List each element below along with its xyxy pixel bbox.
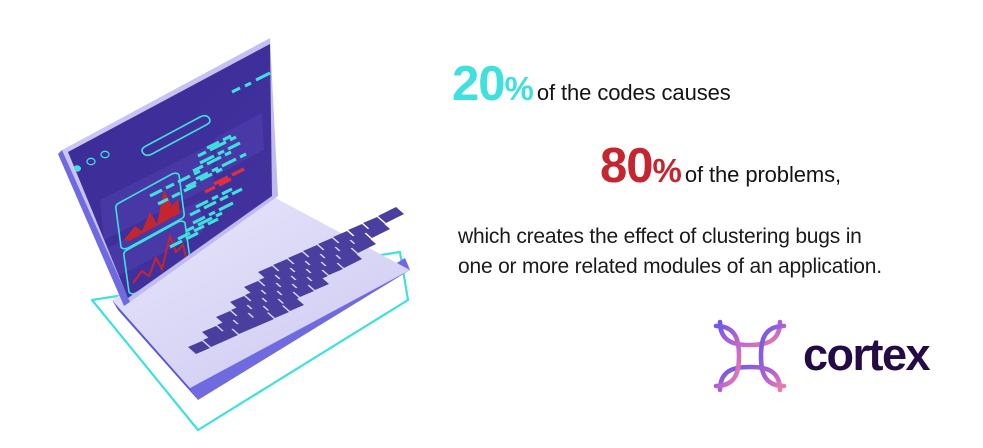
isometric-laptop-illustration [0,0,440,448]
body-line-2: one or more related modules of an applic… [458,252,968,282]
stat-line-20: 20%of the codes causes [452,60,731,109]
stat-line-80: 80%of the problems, [600,142,841,191]
stat-20-value: 20% [452,57,533,111]
slide-canvas: 20%of the codes causes 80%of the problem… [0,0,983,448]
cortex-arcs-mark-icon [708,314,792,398]
body-paragraph: which creates the effect of clustering b… [458,222,968,282]
stat-80-tail: of the problems, [685,162,841,187]
body-line-1: which creates the effect of clustering b… [458,222,968,252]
percent-symbol: % [653,152,681,189]
cortex-logo: cortex [708,310,938,400]
percent-symbol: % [505,70,533,107]
stat-80-value: 80% [600,139,681,193]
text-column: 20%of the codes causes 80%of the problem… [440,0,983,448]
cortex-wordmark: cortex [803,332,929,377]
stat-20-tail: of the codes causes [537,80,731,105]
